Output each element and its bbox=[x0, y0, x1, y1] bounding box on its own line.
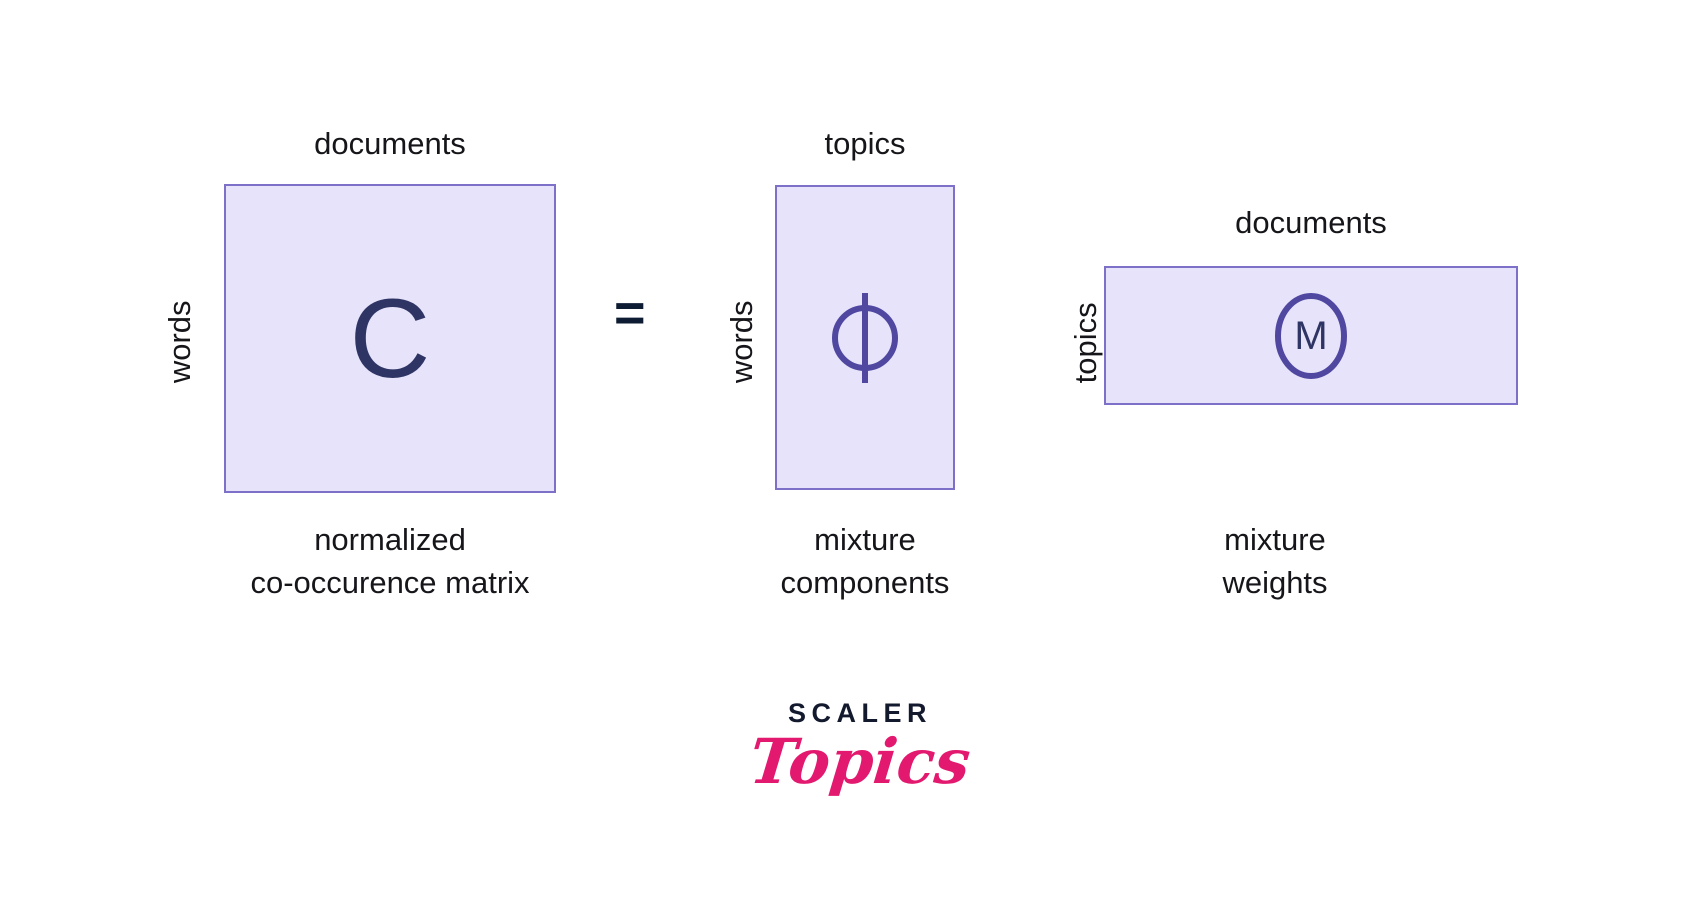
equals-operator: = bbox=[614, 286, 646, 340]
scaler-topics-logo: SCALER Topics bbox=[690, 700, 1030, 794]
phi-matrix-box bbox=[775, 185, 955, 490]
phi-matrix-side-label: words bbox=[724, 272, 760, 412]
m-matrix-symbol: M bbox=[1263, 268, 1359, 403]
c-matrix-symbol: C bbox=[226, 186, 554, 491]
m-matrix-caption-line2: weights bbox=[1222, 565, 1327, 600]
m-matrix-top-label: documents bbox=[1104, 205, 1518, 241]
phi-matrix-caption: mixturecomponents bbox=[660, 519, 1070, 605]
phi-matrix-symbol bbox=[777, 187, 953, 488]
phi-matrix-caption-line2: components bbox=[781, 565, 950, 600]
circled-m-icon: M bbox=[1270, 288, 1352, 384]
c-matrix-box: C bbox=[224, 184, 556, 493]
c-matrix-caption-line2: co-occurence matrix bbox=[250, 565, 529, 600]
c-matrix-top-label: documents bbox=[224, 126, 556, 162]
m-matrix-caption: mixtureweights bbox=[1070, 519, 1480, 605]
svg-text:M: M bbox=[1294, 314, 1327, 358]
diagram-canvas: documents words C normalizedco-occurence… bbox=[0, 0, 1700, 907]
phi-glyph-icon bbox=[827, 285, 903, 391]
c-matrix-side-label: words bbox=[162, 272, 198, 412]
m-matrix-box: M bbox=[1104, 266, 1518, 405]
logo-secondary-text: Topics bbox=[687, 729, 1034, 794]
phi-matrix-caption-line1: mixture bbox=[814, 522, 916, 557]
m-matrix-caption-line1: mixture bbox=[1224, 522, 1326, 557]
m-matrix-side-label: topics bbox=[1068, 273, 1104, 413]
c-matrix-caption-line1: normalized bbox=[314, 522, 466, 557]
logo-primary-text: SCALER bbox=[690, 700, 1030, 727]
c-matrix-caption: normalizedco-occurence matrix bbox=[184, 519, 596, 605]
phi-matrix-top-label: topics bbox=[775, 126, 955, 162]
